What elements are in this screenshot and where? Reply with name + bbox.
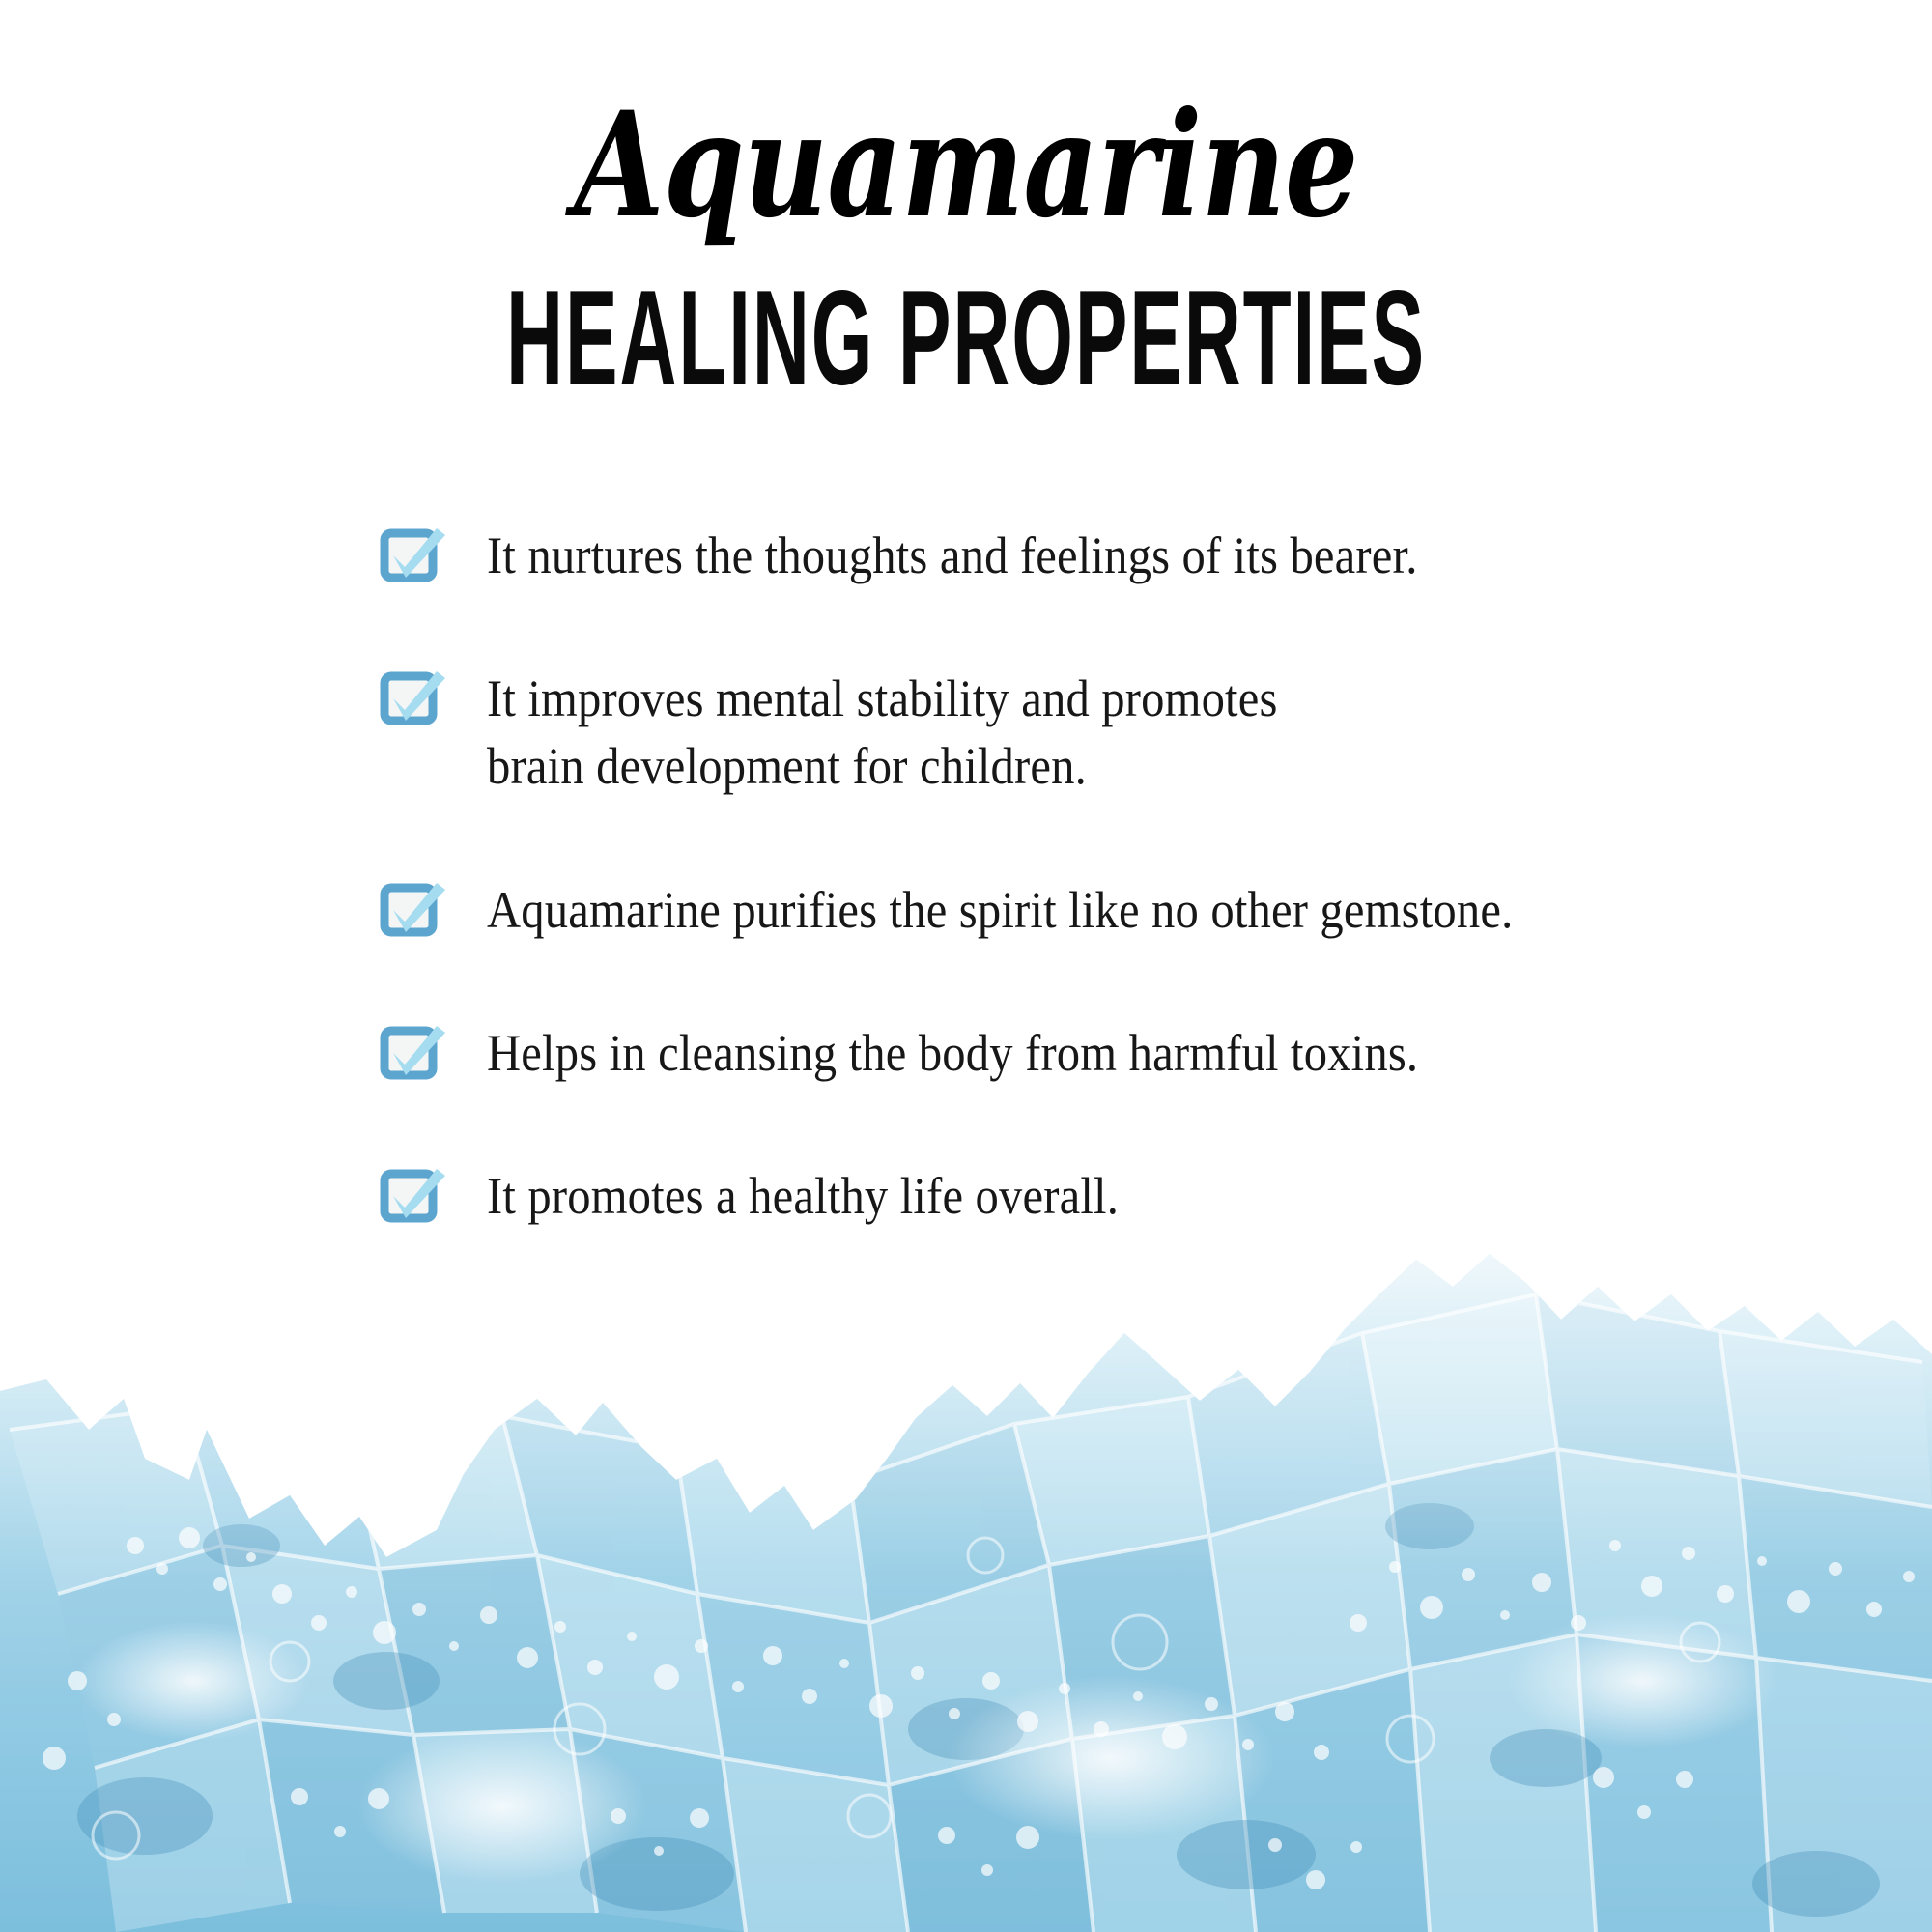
checked-checkbox-icon xyxy=(384,672,444,732)
ice-cubes-photo xyxy=(0,1140,1932,1932)
list-item-label: It nurtures the thoughts and feelings of… xyxy=(487,522,1418,589)
list-item: It nurtures the thoughts and feelings of… xyxy=(384,522,1756,589)
list-item: Helps in cleansing the body from harmful… xyxy=(384,1019,1756,1087)
poster-canvas: Aquamarine HEALING PROPERTIES It nurture… xyxy=(0,0,1932,1932)
list-item-label: It improves mental stability and promote… xyxy=(487,665,1278,800)
list-item: It improves mental stability and promote… xyxy=(384,665,1756,800)
checked-checkbox-icon xyxy=(384,1027,444,1087)
healing-properties-list: It nurtures the thoughts and feelings of… xyxy=(384,522,1756,1230)
page-subtitle: HEALING PROPERTIES xyxy=(367,270,1565,406)
list-item-label: Helps in cleansing the body from harmful… xyxy=(487,1019,1418,1087)
list-item-label: Aquamarine purifies the spirit like no o… xyxy=(487,876,1513,944)
list-item: Aquamarine purifies the spirit like no o… xyxy=(384,876,1756,944)
checked-checkbox-icon xyxy=(384,529,444,589)
page-title: Aquamarine xyxy=(193,93,1739,238)
poster-header: Aquamarine HEALING PROPERTIES xyxy=(0,0,1932,402)
checked-checkbox-icon xyxy=(384,884,444,944)
